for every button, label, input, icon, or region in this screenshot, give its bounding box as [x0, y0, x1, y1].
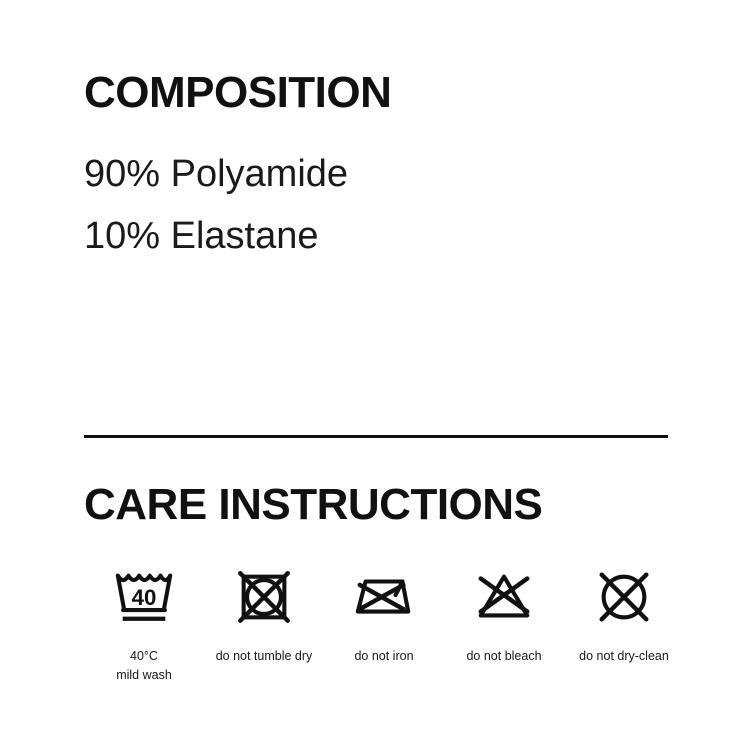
- care-symbol-wash: 40 40°C mild wash: [84, 566, 204, 686]
- care-label-card: COMPOSITION 90% Polyamide 10% Elastane C…: [0, 0, 750, 750]
- care-symbol-tumble-dry: do not tumble dry: [204, 566, 324, 666]
- section-divider: [84, 435, 668, 438]
- do-not-dry-clean-icon: [593, 566, 655, 628]
- wash-tub-40-mild-icon: 40: [113, 566, 175, 628]
- caption-line: 40°C: [116, 647, 172, 666]
- caption-line: do not bleach: [466, 647, 541, 666]
- care-symbol-iron: do not iron: [324, 566, 444, 666]
- do-not-iron-icon: [353, 566, 415, 628]
- caption-line: do not tumble dry: [216, 647, 313, 666]
- care-symbol-caption: 40°C mild wash: [116, 647, 172, 686]
- care-symbol-bleach: do not bleach: [444, 566, 564, 666]
- composition-section: COMPOSITION 90% Polyamide 10% Elastane: [84, 70, 684, 267]
- care-symbol-caption: do not tumble dry: [216, 647, 313, 666]
- wash-temperature-value: 40: [132, 585, 157, 610]
- care-symbol-row: 40 40°C mild wash do not tumble dry: [84, 566, 684, 686]
- care-symbol-dry-clean: do not dry-clean: [564, 566, 684, 666]
- composition-list: 90% Polyamide 10% Elastane: [84, 144, 684, 267]
- composition-heading: COMPOSITION: [84, 70, 684, 116]
- care-instructions-heading: CARE INSTRUCTIONS: [84, 482, 684, 528]
- care-symbol-caption: do not dry-clean: [579, 647, 669, 666]
- caption-line: do not dry-clean: [579, 647, 669, 666]
- care-section: CARE INSTRUCTIONS: [84, 482, 684, 528]
- caption-line: do not iron: [354, 647, 413, 666]
- caption-line: mild wash: [116, 666, 172, 685]
- do-not-tumble-dry-icon: [233, 566, 295, 628]
- care-symbol-caption: do not iron: [354, 647, 413, 666]
- list-item: 90% Polyamide: [84, 144, 684, 206]
- list-item: 10% Elastane: [84, 206, 684, 268]
- do-not-bleach-icon: [473, 566, 535, 628]
- care-symbol-caption: do not bleach: [466, 647, 541, 666]
